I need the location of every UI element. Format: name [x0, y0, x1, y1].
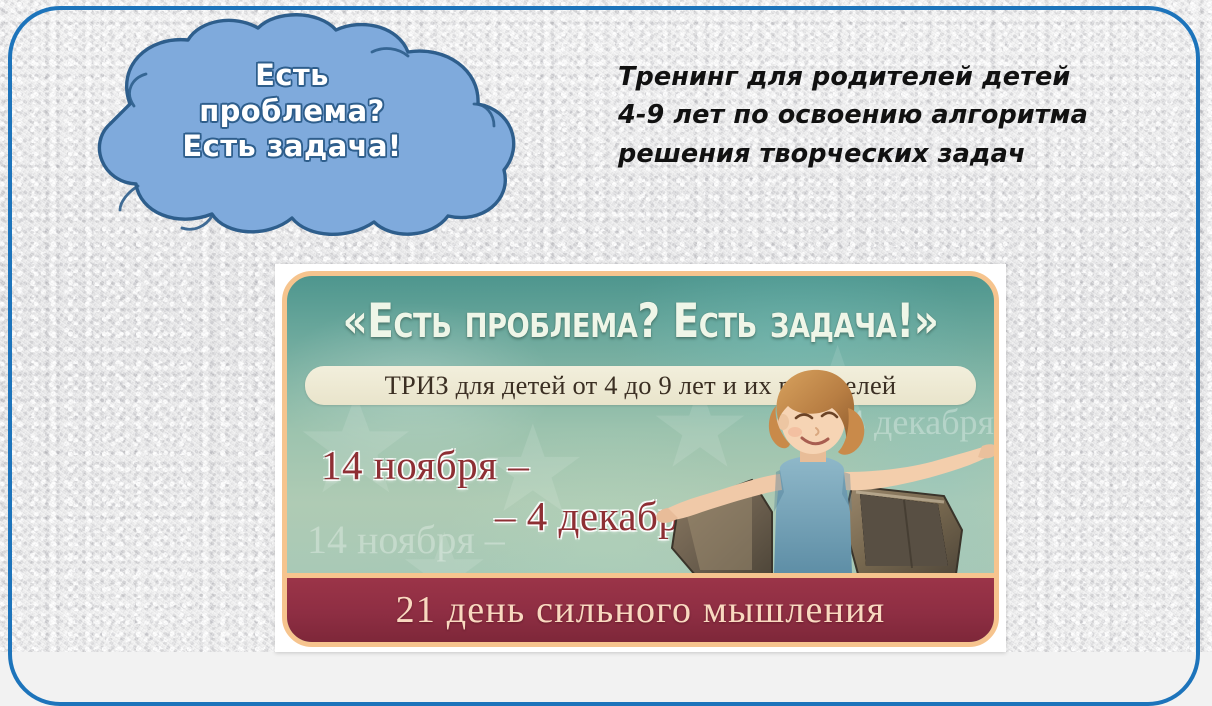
poster-inner-frame: 4 декабря 14 ноября – «Есть проблема? Ес…	[282, 271, 999, 647]
slide-canvas: Есть проблема? Есть задача! Тренинг для …	[0, 0, 1212, 652]
poster-title: «Есть проблема? Есть задача!»	[315, 298, 965, 345]
poster-band-text: 21 день сильного мышления	[396, 588, 886, 632]
headline-text: Тренинг для родителей детей 4-9 лет по о…	[618, 58, 1138, 173]
poster-image: 4 декабря 14 ноября – «Есть проблема? Ес…	[275, 264, 1006, 652]
ghost-watermark-date-from: 14 ноября –	[307, 516, 505, 563]
poster-bottom-band: 21 день сильного мышления	[287, 573, 994, 642]
cloud-text: Есть проблема? Есть задача!	[12, 58, 572, 165]
thought-cloud: Есть проблема? Есть задача!	[12, 12, 572, 242]
ghost-watermark-date-to: 4 декабря	[847, 401, 994, 443]
poster-date-to: – 4 декабря	[495, 492, 699, 540]
poster-subtitle-pill: ТРИЗ для детей от 4 до 9 лет и их родите…	[305, 366, 976, 405]
poster-date-from: 14 ноября –	[321, 441, 529, 489]
poster-subtitle-text: ТРИЗ для детей от 4 до 9 лет и их родите…	[385, 370, 897, 401]
